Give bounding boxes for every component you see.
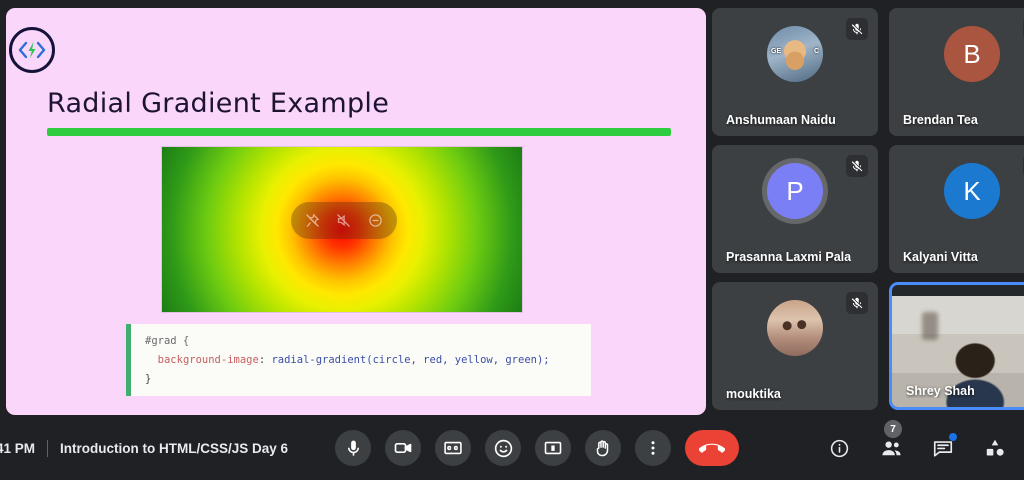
meeting-meta: 41 PM Introduction to HTML/CSS/JS Day 6	[0, 440, 288, 457]
captions-icon	[443, 438, 463, 458]
google-meet-window: Radial Gradient Example	[0, 0, 1024, 480]
avatar	[767, 300, 823, 356]
participant-grid: GE C Anshumaan Naidu B	[712, 8, 1024, 416]
code-line-selector: #grad {	[145, 335, 189, 347]
presentation-slide: Radial Gradient Example	[6, 8, 706, 415]
avatar-initial: K	[963, 176, 980, 207]
avatar: P	[767, 163, 823, 219]
raise-hand-icon	[593, 438, 613, 458]
reactions-button[interactable]	[485, 430, 521, 466]
page-title: Radial Gradient Example	[47, 88, 389, 119]
more-vertical-icon	[644, 439, 662, 457]
present-screen-icon	[543, 438, 563, 458]
mute-icon[interactable]	[336, 213, 351, 228]
unpin-icon[interactable]	[305, 213, 320, 228]
call-controls	[335, 430, 739, 466]
captions-button[interactable]	[435, 430, 471, 466]
camera-icon	[393, 438, 413, 458]
code-property: background-image	[158, 354, 259, 366]
shared-screen-stage[interactable]: Radial Gradient Example	[6, 8, 706, 415]
participant-tile[interactable]: mouktika	[712, 282, 878, 410]
avatar-text-left: GE	[771, 48, 781, 55]
participant-tile[interactable]: K Kalyani Vitta	[889, 145, 1024, 273]
info-icon	[829, 438, 850, 459]
avatar: K	[944, 163, 1000, 219]
present-button[interactable]	[535, 430, 571, 466]
raise-hand-button[interactable]	[585, 430, 621, 466]
participant-tile-active[interactable]: Shrey Shah	[889, 282, 1024, 410]
participant-tile[interactable]: GE C Anshumaan Naidu	[712, 8, 878, 136]
meeting-toolbar: 41 PM Introduction to HTML/CSS/JS Day 6	[0, 416, 1024, 480]
mic-off-icon	[846, 292, 868, 314]
participant-tile[interactable]: B Brendan Tea	[889, 8, 1024, 136]
unread-chat-dot	[949, 433, 957, 441]
meeting-right-controls: 7	[824, 433, 1010, 463]
people-button[interactable]: 7	[876, 433, 906, 463]
microphone-icon	[344, 439, 363, 458]
minimize-icon[interactable]	[368, 213, 383, 228]
participant-name: Brendan Tea	[903, 113, 978, 127]
presentation-overlay-controls[interactable]	[291, 202, 397, 239]
avatar: B	[944, 26, 1000, 82]
meeting-time: 41 PM	[0, 441, 35, 456]
code-brackets-bolt-icon	[9, 27, 55, 73]
activities-button[interactable]	[980, 433, 1010, 463]
participant-name: Kalyani Vitta	[903, 250, 978, 264]
activities-shapes-icon	[984, 437, 1006, 459]
meta-divider	[47, 440, 48, 457]
chat-button[interactable]	[928, 433, 958, 463]
code-colon: :	[259, 354, 272, 366]
meeting-title: Introduction to HTML/CSS/JS Day 6	[60, 441, 288, 456]
participant-name: Prasanna Laxmi Pala	[726, 250, 851, 264]
smiley-icon	[493, 438, 514, 459]
end-call-button[interactable]	[685, 430, 739, 466]
camera-button[interactable]	[385, 430, 421, 466]
code-line-close: }	[145, 373, 151, 385]
participant-count-badge: 7	[884, 420, 902, 438]
mic-off-icon	[846, 155, 868, 177]
code-value: radial-gradient(circle, red, yellow, gre…	[271, 354, 549, 366]
participant-name: mouktika	[726, 387, 781, 401]
avatar-text-right: C	[814, 48, 819, 55]
avatar-initial: B	[963, 39, 980, 70]
participant-name: Anshumaan Naidu	[726, 113, 836, 127]
avatar-initial: P	[786, 176, 803, 207]
mic-off-icon	[846, 18, 868, 40]
title-underline-bar	[47, 128, 671, 136]
people-icon	[880, 437, 903, 460]
participant-tile[interactable]: P Prasanna Laxmi Pala	[712, 145, 878, 273]
avatar: GE C	[767, 26, 823, 82]
end-call-icon	[699, 435, 725, 461]
more-options-button[interactable]	[635, 430, 671, 466]
participant-name: Shrey Shah	[906, 384, 975, 398]
meeting-details-button[interactable]	[824, 433, 854, 463]
microphone-button[interactable]	[335, 430, 371, 466]
code-snippet-block: #grad { background-image: radial-gradien…	[126, 324, 591, 396]
